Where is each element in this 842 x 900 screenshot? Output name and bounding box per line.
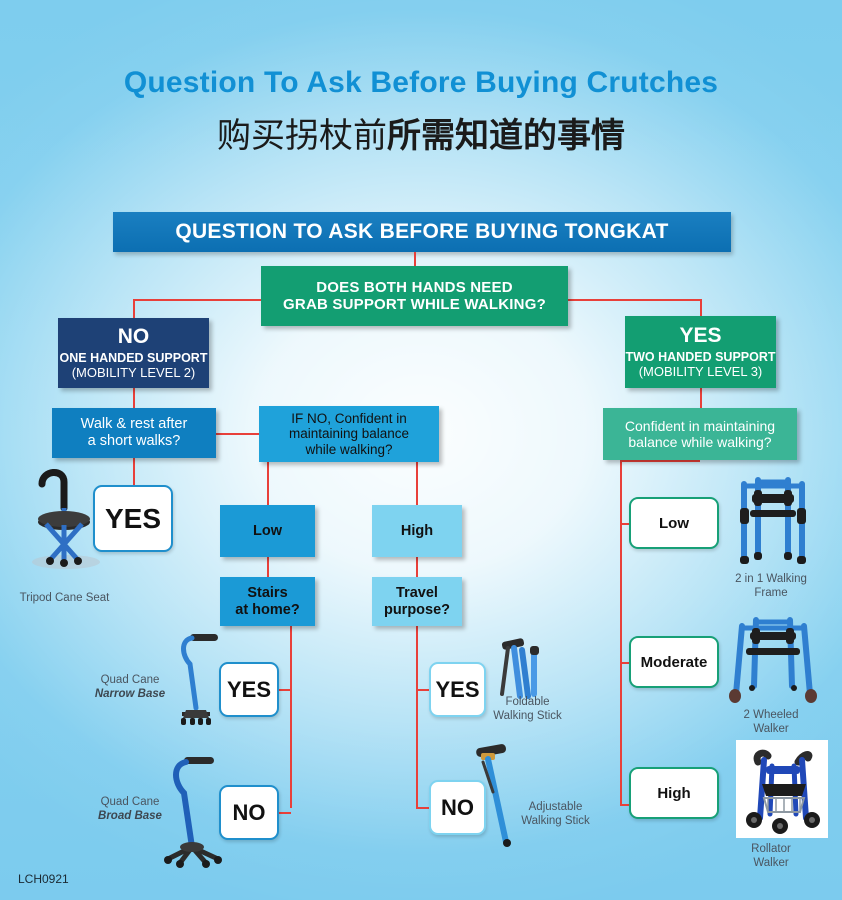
connector-stairs-to-yes <box>279 689 291 691</box>
answer-right-moderate: Moderate <box>629 636 719 688</box>
connector-walkrest-to-yes <box>133 458 135 485</box>
caption-rollator-line1: Rollator <box>751 843 791 855</box>
caption-quad-cane-narrow: Quad Cane Narrow Base <box>90 673 170 702</box>
branch-yes-level: (MOBILITY LEVEL 3) <box>639 365 763 380</box>
page-title-chinese: 购买拐杖前所需知道的事情 <box>0 108 842 157</box>
answer-stairs-yes: YES <box>219 662 279 717</box>
adjustable-walking-stick-icon <box>468 742 524 852</box>
page-title-english: Question To Ask Before Buying Crutches <box>0 66 842 100</box>
branch-yes-box: YES TWO HANDED SUPPORT (MOBILITY LEVEL 3… <box>625 316 776 388</box>
connector-top-horizontal-left <box>133 299 263 301</box>
answer-stairs-no-label: NO <box>233 800 266 826</box>
caption-adjustable-line1: Adjustable <box>529 801 583 813</box>
caption-quad-cane-narrow-type: Narrow Base <box>95 688 165 700</box>
question-walk-rest-line2: a short walks? <box>88 433 181 450</box>
section-banner: QUESTION TO ASK BEFORE BUYING TONGKAT <box>113 212 731 252</box>
question-confident-balance-box: Confident in maintaining balance while w… <box>603 408 797 460</box>
connector-stairs-trunk <box>290 626 292 808</box>
quad-cane-broad-base-icon <box>160 755 235 870</box>
answer-right-low: Low <box>629 497 719 549</box>
answer-walkrest-yes-label: YES <box>105 503 161 535</box>
caption-adjustable-walking-stick: Adjustable Walking Stick <box>508 800 603 829</box>
branch-no-level: (MOBILITY LEVEL 2) <box>72 366 196 381</box>
caption-quad-cane-broad-type: Broad Base <box>98 810 162 822</box>
caption-foldable-line2: Walking Stick <box>493 710 562 722</box>
answer-travel-yes-label: YES <box>435 677 479 703</box>
tripod-cane-seat-icon <box>16 462 112 572</box>
level-low-label: Low <box>253 523 282 540</box>
quad-cane-narrow-base-icon <box>170 630 228 730</box>
answer-right-moderate-label: Moderate <box>641 654 708 671</box>
connector-walkrest-to-ifno <box>216 433 259 435</box>
question-walk-rest-line1: Walk & rest after <box>81 416 188 433</box>
walking-frame-icon <box>728 470 818 570</box>
question-stairs-box: Stairs at home? <box>220 577 315 626</box>
connector-no-to-walkrest <box>133 388 135 408</box>
caption-quad-cane-broad-brand: Quad Cane <box>101 796 160 808</box>
caption-quad-cane-narrow-brand: Quad Cane <box>101 674 160 686</box>
question-walk-rest-box: Walk & rest after a short walks? <box>52 408 216 458</box>
connector-travel-trunk <box>416 626 418 808</box>
question-stairs-line2: at home? <box>235 602 299 619</box>
caption-rollator-walker: Rollator Walker <box>716 842 826 871</box>
level-high-label: High <box>401 523 433 540</box>
rollator-walker-photo-frame <box>736 740 828 838</box>
question-travel-box: Travel purpose? <box>372 577 462 626</box>
caption-foldable-line1: Foldable <box>505 696 549 708</box>
connector-ifno-to-high <box>416 462 418 505</box>
connector-stairs-to-no <box>279 812 291 814</box>
caption-walking-frame-line1: 2 in 1 Walking <box>735 573 807 585</box>
connector-confident-trunk <box>620 460 622 805</box>
caption-foldable-walking-stick: Foldable Walking Stick <box>480 695 575 724</box>
connector-top-horizontal-right <box>568 299 701 301</box>
caption-wheeled-walker: 2 Wheeled Walker <box>716 708 826 737</box>
answer-travel-yes: YES <box>429 662 486 717</box>
connector-confident-down-stub <box>620 460 700 462</box>
branch-no-box: NO ONE HANDED SUPPORT (MOBILITY LEVEL 2) <box>58 318 209 388</box>
root-question-line1: DOES BOTH HANDS NEED <box>316 279 513 296</box>
branch-yes-detail: TWO HANDED SUPPORT <box>626 350 776 364</box>
root-question-box: DOES BOTH HANDS NEED GRAB SUPPORT WHILE … <box>261 266 568 326</box>
footer-code: LCH0921 <box>18 872 69 886</box>
caption-rollator-line2: Walker <box>753 857 788 869</box>
answer-right-high-label: High <box>657 785 690 802</box>
wheeled-walker-icon <box>728 612 818 707</box>
caption-wheeled-walker-line1: 2 Wheeled <box>744 709 799 721</box>
infographic-root: Question To Ask Before Buying Crutches 购… <box>0 0 842 900</box>
caption-tripod-cane-seat-label: Tripod Cane Seat <box>20 592 110 604</box>
question-if-no-line1: IF NO, Confident in <box>291 411 407 427</box>
question-if-no-line2: maintaining balance <box>289 426 409 442</box>
page-title-chinese-strong: 所需知道的事情 <box>387 116 625 156</box>
question-confident-line1: Confident in maintaining <box>625 418 775 434</box>
caption-quad-cane-broad: Quad Cane Broad Base <box>90 795 170 824</box>
connector-ifno-to-low <box>267 462 269 505</box>
branch-no-detail: ONE HANDED SUPPORT <box>60 351 208 365</box>
question-stairs-line1: Stairs <box>247 585 287 602</box>
question-travel-line1: Travel <box>396 585 438 602</box>
question-if-no-line3: while walking? <box>305 442 392 458</box>
page-title-chinese-plain: 购买拐杖前 <box>217 116 387 156</box>
answer-right-high: High <box>629 767 719 819</box>
question-if-no-balance-box: IF NO, Confident in maintaining balance … <box>259 406 439 462</box>
rollator-walker-icon <box>736 740 828 838</box>
caption-walking-frame-line2: Frame <box>754 587 787 599</box>
branch-yes-answer: YES <box>679 324 721 348</box>
root-question-line2: GRAB SUPPORT WHILE WALKING? <box>283 296 546 313</box>
connector-high-to-travel <box>416 557 418 577</box>
level-high-box: High <box>372 505 462 557</box>
connector-low-to-stairs <box>267 557 269 577</box>
connector-travel-to-yes <box>416 689 430 691</box>
answer-stairs-yes-label: YES <box>227 677 271 703</box>
connector-root-to-no <box>133 299 135 319</box>
connector-stairs-stub <box>290 626 292 634</box>
answer-right-low-label: Low <box>659 515 689 532</box>
connector-travel-to-no <box>416 807 430 809</box>
question-confident-line2: balance while walking? <box>628 434 771 450</box>
branch-no-answer: NO <box>118 325 150 349</box>
question-travel-line2: purpose? <box>384 602 450 619</box>
caption-walking-frame: 2 in 1 Walking Frame <box>716 572 826 601</box>
connector-yes-to-confident <box>700 388 702 408</box>
caption-adjustable-line2: Walking Stick <box>521 815 590 827</box>
caption-tripod-cane-seat: Tripod Cane Seat <box>2 591 127 605</box>
level-low-box: Low <box>220 505 315 557</box>
connector-root-stub-down <box>414 252 416 266</box>
foldable-walking-stick-icon <box>496 636 556 704</box>
caption-wheeled-walker-line2: Walker <box>753 723 788 735</box>
